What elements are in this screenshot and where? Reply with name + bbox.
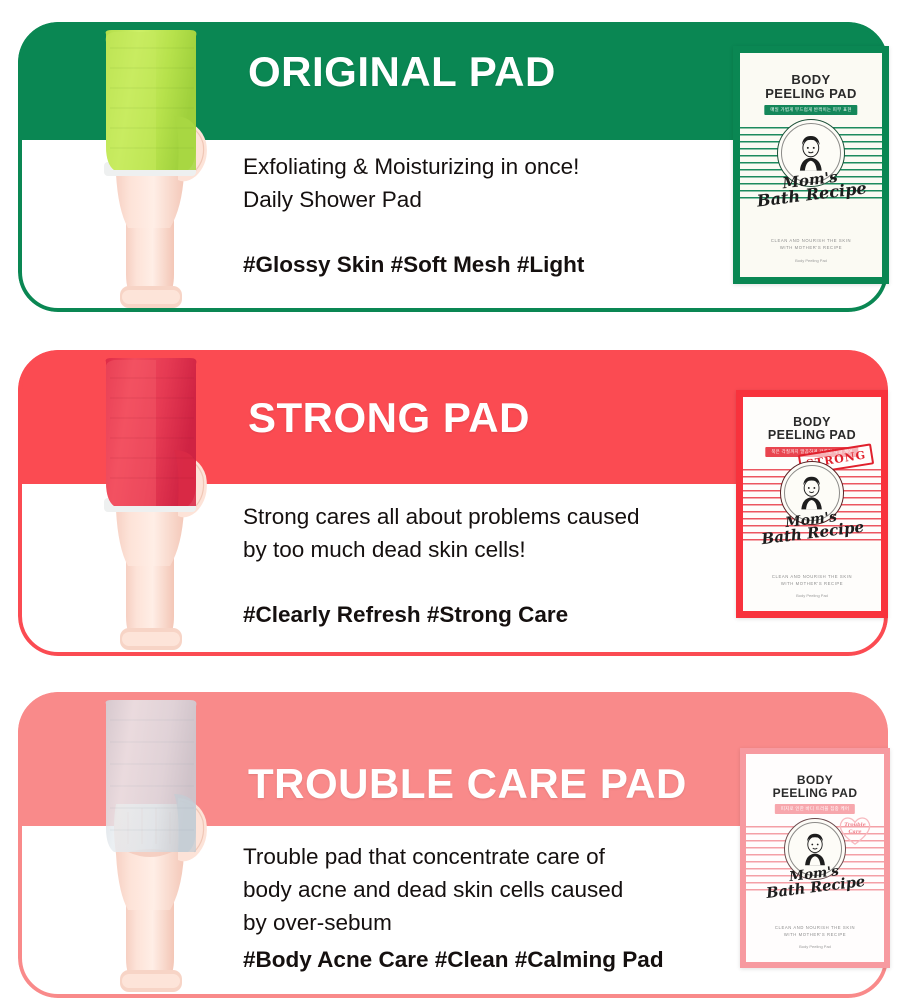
- card-body-trouble: Trouble pad that concentrate care of bod…: [243, 840, 723, 939]
- variant-label-line2: Care: [848, 829, 861, 836]
- product-package-trouble: BODY PEELING PAD 피지로 인한 바디 트러블 집중 케어 Tro…: [740, 748, 890, 968]
- brand-script-line2: Bath Recipe: [756, 180, 868, 210]
- hand-with-red-pad-image: [70, 352, 230, 656]
- package-face-trouble: BODY PEELING PAD 피지로 인한 바디 트러블 집중 케어 Tro…: [746, 754, 884, 962]
- mom-portrait-icon: [791, 133, 831, 173]
- card-tags-strong: #Clearly Refresh #Strong Care: [243, 600, 713, 630]
- package-title-strong: BODY PEELING PAD: [743, 416, 881, 443]
- card-title-original: ORIGINAL PAD: [248, 48, 556, 96]
- package-volume-original: Body Peeling Pad: [740, 258, 882, 263]
- mom-portrait-icon: [793, 474, 830, 511]
- package-title-original: BODY PEELING PAD: [740, 73, 882, 101]
- package-volume-strong: Body Peeling Pad: [743, 593, 881, 598]
- package-title-trouble: BODY PEELING PAD: [746, 774, 884, 799]
- card-title-strong: STRONG PAD: [248, 394, 530, 442]
- card-tags-trouble: #Body Acne Care #Clean #Calming Pad: [243, 945, 743, 975]
- hand-with-white-pad-image: [70, 694, 230, 998]
- variant-label-line1: Trouble: [844, 822, 866, 829]
- mom-portrait-icon: [797, 831, 833, 867]
- card-body-original: Exfoliating & Moisturizing in once! Dail…: [243, 150, 683, 216]
- card-body-strong: Strong cares all about problems caused b…: [243, 500, 713, 566]
- card-tags-original: #Glossy Skin #Soft Mesh #Light: [243, 250, 713, 280]
- package-face-original: BODY PEELING PAD 매일 가볍게 부드럽게 반짝이는 피부 표현 …: [740, 53, 882, 277]
- package-subtitle-original: 매일 가볍게 부드럽게 반짝이는 피부 표현: [764, 105, 857, 115]
- package-face-strong: BODY PEELING PAD 묵은 각질까지 말끔하게 강력한 각질 케어 …: [743, 397, 881, 611]
- product-package-original: BODY PEELING PAD 매일 가볍게 부드럽게 반짝이는 피부 표현 …: [733, 46, 889, 284]
- card-title-trouble: TROUBLE CARE PAD: [248, 760, 687, 808]
- package-footer-strong: CLEAN AND NOURISH THE SKIN WITH MOTHER'S…: [743, 574, 881, 587]
- product-package-strong: BODY PEELING PAD 묵은 각질까지 말끔하게 강력한 각질 케어 …: [736, 390, 888, 618]
- infographic-board: ORIGINAL PAD Exfoliating & Moisturizing …: [0, 0, 906, 1008]
- package-volume-trouble: Body Peeling Pad: [746, 944, 884, 949]
- package-footer-trouble: CLEAN AND NOURISH THE SKIN WITH MOTHER'S…: [746, 925, 884, 938]
- brand-script-line2: Bath Recipe: [766, 874, 866, 901]
- hand-with-green-pad-image: [70, 24, 230, 312]
- brand-script-line2: Bath Recipe: [761, 520, 865, 548]
- package-footer-original: CLEAN AND NOURISH THE SKIN WITH MOTHER'S…: [740, 238, 882, 251]
